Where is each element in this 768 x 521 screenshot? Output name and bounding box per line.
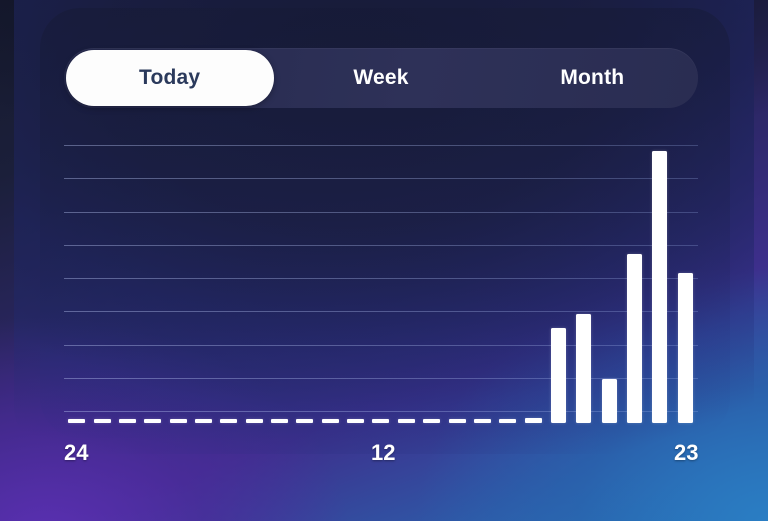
chart-bar [220,419,237,423]
bar-slot[interactable] [622,145,647,423]
activity-bar-chart [64,145,698,423]
bar-slot[interactable] [267,145,292,423]
chart-bar [68,419,85,423]
chart-bar [322,419,339,423]
bar-slot[interactable] [597,145,622,423]
bar-slot[interactable] [89,145,114,423]
chart-bar [119,419,136,423]
bar-slot[interactable] [318,145,343,423]
bar-slot[interactable] [292,145,317,423]
bar-slot[interactable] [216,145,241,423]
bar-slot[interactable] [647,145,672,423]
chart-bar [678,273,693,423]
chart-bar [627,254,642,423]
x-axis-label-start: 24 [64,440,88,466]
chart-bar [94,419,111,423]
tab-month[interactable]: Month [487,48,698,108]
tab-today[interactable]: Today [64,48,275,108]
chart-bar [271,419,288,423]
time-range-segmented-control[interactable]: Today Week Month [64,48,698,108]
chart-bars [64,145,698,423]
chart-bar [195,419,212,423]
chart-bar [398,419,415,423]
bar-slot[interactable] [140,145,165,423]
bar-slot[interactable] [165,145,190,423]
chart-bar [296,419,313,423]
bar-slot[interactable] [191,145,216,423]
chart-bar [652,151,667,423]
screen-root: Today Week Month 24 12 23 [0,0,768,521]
tab-week[interactable]: Week [275,48,486,108]
bar-slot[interactable] [470,145,495,423]
bar-slot[interactable] [242,145,267,423]
bar-slot[interactable] [115,145,140,423]
chart-bar [144,419,161,423]
chart-bar [449,419,466,423]
chart-bar [551,328,566,423]
chart-bar [372,419,389,423]
x-axis-label-mid: 12 [371,440,395,466]
chart-bar [474,419,491,423]
x-axis-label-end: 23 [674,440,698,466]
bar-slot[interactable] [571,145,596,423]
chart-bar [525,418,542,423]
bar-slot[interactable] [343,145,368,423]
chart-bar [499,419,516,423]
chart-bar [576,314,591,423]
bar-slot[interactable] [673,145,698,423]
bar-slot[interactable] [546,145,571,423]
bar-slot[interactable] [419,145,444,423]
bar-slot[interactable] [368,145,393,423]
bar-slot[interactable] [520,145,545,423]
bar-slot[interactable] [495,145,520,423]
bar-slot[interactable] [444,145,469,423]
chart-bar [602,379,617,423]
chart-bar [347,419,364,423]
bar-slot[interactable] [394,145,419,423]
chart-bar [246,419,263,423]
bar-slot[interactable] [64,145,89,423]
chart-bar [170,419,187,423]
chart-x-axis: 24 12 23 [0,440,768,480]
chart-bar [423,419,440,423]
